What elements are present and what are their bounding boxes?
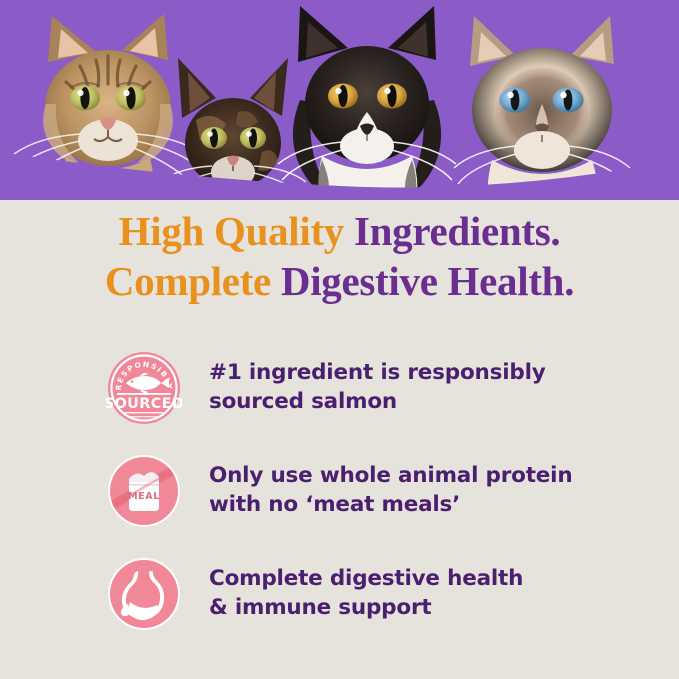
headline-line-1-purple: Ingredients. bbox=[354, 208, 560, 254]
page-title: High Quality Ingredients. Complete Diges… bbox=[0, 206, 679, 306]
no-meat-meal-bag-icon: MEAL bbox=[96, 453, 192, 529]
feature-3-line-1: Complete digestive health bbox=[209, 565, 523, 594]
badge-banner-label: SOURCED bbox=[106, 396, 182, 412]
feature-3-line-2: & immune support bbox=[209, 594, 523, 623]
feature-2-line-1: Only use whole animal protein bbox=[209, 462, 572, 491]
headline-line-2: Complete Digestive Health. bbox=[0, 256, 679, 306]
feature-1-line-1: #1 ingredient is responsibly bbox=[209, 359, 546, 388]
meal-bag: MEAL bbox=[128, 472, 160, 511]
headline-line-2-orange: Complete bbox=[105, 258, 281, 304]
headline-line-1: High Quality Ingredients. bbox=[0, 206, 679, 256]
headline-line-1-orange: High Quality bbox=[119, 208, 354, 254]
feature-text-responsibly-sourced: #1 ingredient is responsibly sourced sal… bbox=[209, 359, 546, 416]
feature-text-digestive-health: Complete digestive health & immune suppo… bbox=[209, 565, 523, 622]
responsibly-sourced-badge-icon: RESPONSIBLY SOURCED bbox=[96, 350, 192, 426]
headline-line-2-purple: Digestive Health. bbox=[281, 258, 574, 304]
feature-text-no-meat-meals: Only use whole animal protein with no ‘m… bbox=[209, 462, 572, 519]
feature-row-no-meat-meals: MEAL Only use whole animal protein with … bbox=[0, 439, 679, 542]
cat-banner-illustration bbox=[0, 0, 679, 200]
feature-row-responsibly-sourced: RESPONSIBLY SOURCED #1 ingredient is res… bbox=[0, 336, 679, 439]
feature-list: RESPONSIBLY SOURCED #1 ingredient is res… bbox=[0, 336, 679, 645]
feature-2-line-2: with no ‘meat meals’ bbox=[209, 491, 572, 520]
digestive-stomach-heart-icon bbox=[96, 556, 192, 632]
feature-1-line-2: sourced salmon bbox=[209, 388, 546, 417]
feature-row-digestive-health: Complete digestive health & immune suppo… bbox=[0, 542, 679, 645]
cat-photo-banner bbox=[0, 0, 679, 200]
